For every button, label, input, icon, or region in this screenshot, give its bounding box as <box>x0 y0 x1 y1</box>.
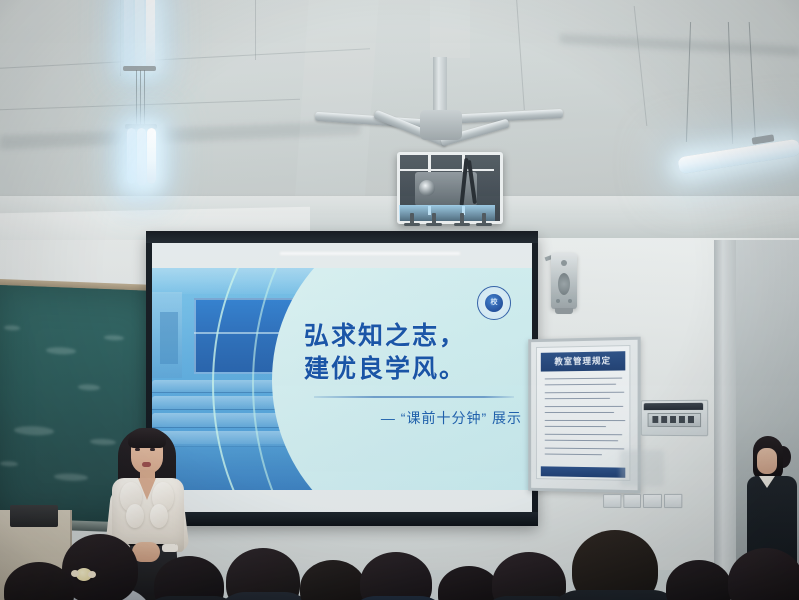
door-jamb <box>714 240 736 570</box>
hair-clip <box>76 568 92 581</box>
projector-mount-foot <box>454 223 470 226</box>
audience-member <box>546 590 686 600</box>
slide-headline: 弘求知之志， 建优良学风。 <box>304 320 519 386</box>
light-switch[interactable] <box>664 494 683 508</box>
projector-mount-foot <box>426 223 442 226</box>
light-switch[interactable] <box>623 494 641 508</box>
wall-control-panel[interactable] <box>641 400 708 437</box>
slide-subtitle: — “课前十分钟” 展示 <box>304 408 522 428</box>
slide-headline-line1: 弘求知之志， <box>304 320 519 353</box>
light-switch[interactable] <box>603 494 621 508</box>
audience-member <box>438 566 500 600</box>
university-seal-icon: 校 <box>477 286 511 320</box>
slide-divider <box>314 396 514 398</box>
wall-outlet <box>620 450 664 486</box>
projector-mount-foot <box>476 223 492 226</box>
projector-mount-foot <box>404 223 420 226</box>
fan-motor <box>420 110 462 140</box>
speaker-base <box>555 308 573 314</box>
wall-speaker <box>551 253 577 309</box>
classroom-equipment <box>10 505 58 527</box>
projector-lens <box>419 180 435 196</box>
light-hanger-wire <box>136 70 137 125</box>
screen-glare <box>280 252 460 255</box>
screen-top-bar <box>146 231 538 243</box>
light-hanger-wire <box>144 70 145 125</box>
light-hanger-wire <box>140 70 141 125</box>
projection-screen: 校 弘求知之志， 建优良学风。 — “课前十分钟” 展示 <box>152 240 532 515</box>
slide-content: 校 弘求知之志， 建优良学风。 — “课前十分钟” 展示 <box>152 268 532 490</box>
slide-headline-line2: 建优良学风。 <box>304 353 519 386</box>
poster-heading: 教室管理规定 <box>541 351 625 371</box>
screen-bottom-bar <box>146 512 538 526</box>
light-switch[interactable] <box>643 494 661 508</box>
classroom-photo: 校 弘求知之志， 建优良学风。 — “课前十分钟” 展示 教室管理规定 <box>0 0 799 600</box>
seal-glyph: 校 <box>488 298 500 308</box>
light-switch-row[interactable] <box>603 494 682 508</box>
